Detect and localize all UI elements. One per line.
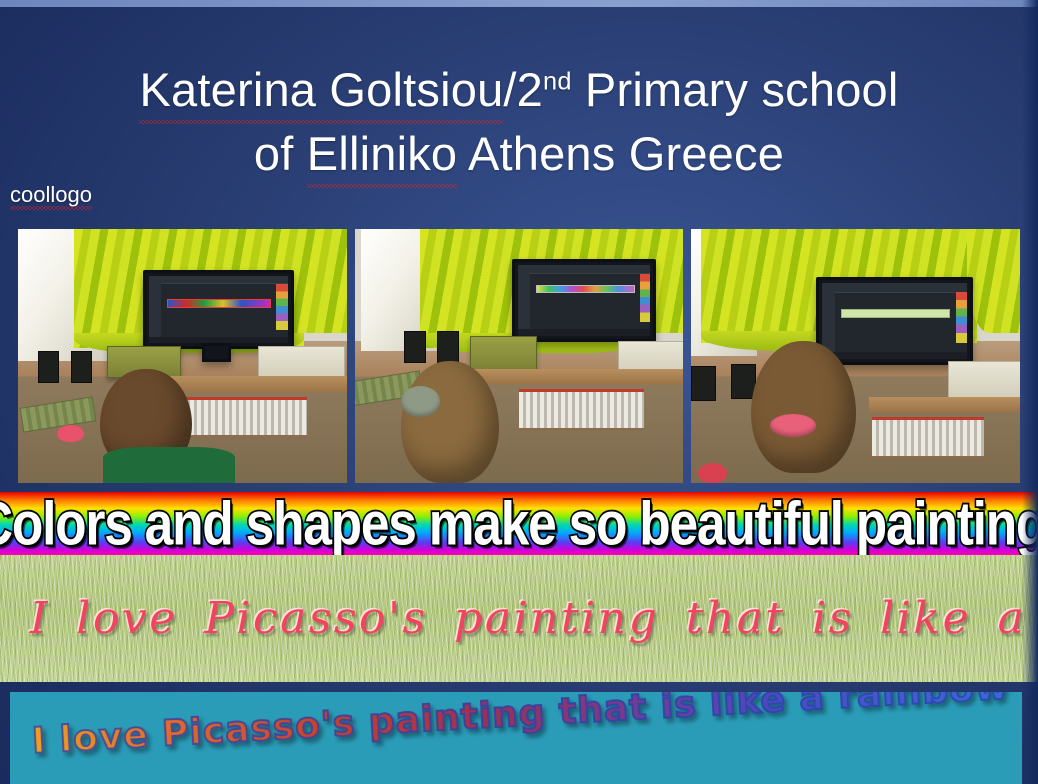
title-line2-prefix: of — [254, 127, 307, 180]
photo-strip — [18, 229, 1020, 483]
title-line2-suffix: Athens Greece — [457, 127, 784, 180]
photo2-student-head — [401, 361, 500, 483]
photo1-monitor-stand — [202, 343, 231, 362]
classroom-photo-2 — [355, 229, 684, 483]
photo2-hair-scrunchie — [401, 386, 440, 416]
classroom-photo-3 — [691, 229, 1020, 483]
page-title: Katerina Goltsiou/2nd Primary school of … — [0, 58, 1038, 186]
coollogo-label: coollogo — [10, 182, 92, 208]
photo3-screen-color-rail — [956, 292, 968, 343]
title-place-misspelled: Elliniko — [307, 122, 458, 186]
photo3-mouse — [698, 463, 728, 483]
photo3-screen-banner — [841, 309, 950, 318]
photo1-mouse — [57, 425, 83, 443]
photo1-screen-sidebar — [149, 283, 161, 337]
teal-banner-logo-text: I love Picasso's painting that is like a… — [31, 692, 1010, 762]
photo2-screen-color-rail — [640, 274, 651, 322]
title-name-misspelled: Katerina Goltsiou — [139, 58, 503, 122]
photo3-curtain-right — [967, 229, 1020, 333]
classroom-photo-1 — [18, 229, 347, 483]
photo3-student-head — [751, 341, 856, 473]
title-ordinal-superscript: nd — [543, 67, 572, 95]
photo2-screen-toolbar — [518, 265, 650, 274]
photo1-monitor — [143, 270, 294, 350]
photo2-speaker-right — [437, 331, 459, 363]
photo3-screen-taskbar — [822, 352, 967, 359]
grass-banner-quote: I love Picasso's painting that is like a… — [30, 591, 1038, 647]
photo2-screen-taskbar — [518, 329, 650, 335]
photo2-pc-case — [470, 336, 538, 371]
title-line1-tail: Primary school — [572, 63, 899, 116]
photo2-screen-banner — [536, 285, 635, 293]
rainbow-banner: Colors and shapes make so beautiful pain… — [0, 492, 1038, 555]
rainbow-banner-text-inner: Colors and shapes make so beautiful pain… — [0, 493, 1038, 554]
photo3-screen-sidebar — [822, 292, 835, 352]
title-line-2: of Elliniko Athens Greece — [0, 122, 1038, 186]
photo3-desk — [869, 397, 1020, 412]
grass-banner: I love Picasso's painting that is like a… — [0, 555, 1038, 682]
presentation-slide: Katerina Goltsiou/2nd Primary school of … — [0, 0, 1038, 784]
photo3-monitor — [816, 277, 973, 364]
slide-top-accent-strip — [0, 0, 1038, 7]
photo2-screen — [518, 265, 650, 335]
coollogo-caption: coollogo — [10, 182, 92, 208]
photo1-screen-color-rail — [276, 284, 287, 330]
photo3-speaker-left — [691, 366, 716, 401]
photo3-screen — [822, 283, 967, 358]
photo1-desk — [169, 376, 346, 391]
photo1-radiator — [176, 397, 307, 438]
photo1-screen-toolbar — [149, 276, 288, 284]
photo1-speaker-right — [71, 351, 93, 383]
title-line1-slash-two: /2 — [503, 63, 543, 116]
photo1-speaker-left — [38, 351, 60, 383]
title-line-1: Katerina Goltsiou/2nd Primary school — [0, 58, 1038, 122]
photo2-desk — [473, 369, 683, 384]
rainbow-banner-text: Colors and shapes make so beautiful pain… — [0, 499, 1038, 549]
photo3-radiator — [872, 417, 984, 458]
photo2-speaker-left — [404, 331, 426, 363]
photo3-screen-toolbar — [822, 283, 967, 292]
photo2-monitor — [512, 259, 656, 341]
photo1-screen-banner — [167, 299, 271, 308]
photo1-screen — [149, 276, 288, 344]
photo2-screen-sidebar — [518, 273, 530, 329]
photo2-radiator — [519, 389, 644, 430]
teal-banner: I love Picasso's painting that is like a… — [10, 692, 1022, 784]
photo1-student-shirt — [103, 447, 234, 483]
